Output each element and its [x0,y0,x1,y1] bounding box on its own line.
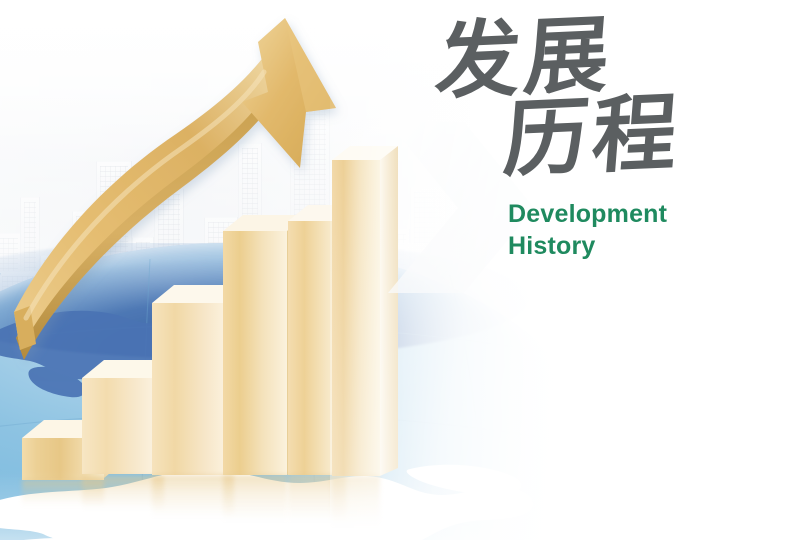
english-title-line-1: Development [508,198,730,230]
english-title: Development History [508,198,730,262]
english-title-line-2: History [508,230,730,262]
chinese-title-line-2: 历程 [501,90,735,184]
title-block: 发展 历程 Development History [430,22,730,262]
development-history-banner: 发展 历程 Development History [0,0,800,540]
